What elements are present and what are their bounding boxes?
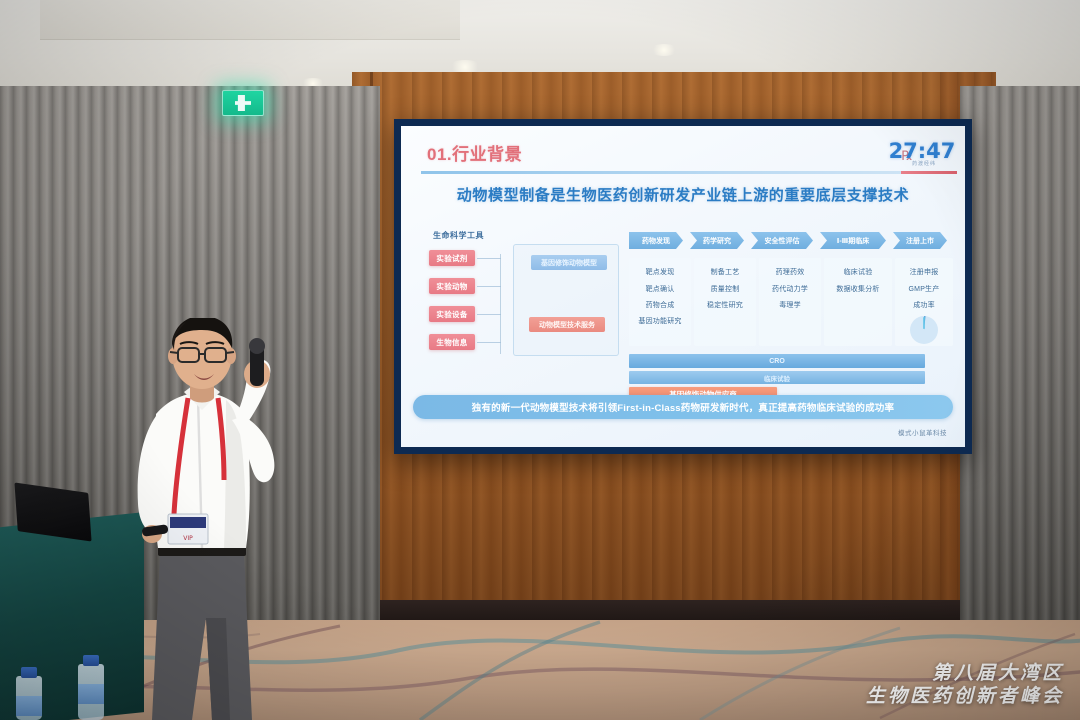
col-item: 毒理学 [759, 297, 821, 313]
col-item: 靶点发现 [629, 264, 691, 280]
tool-connector [477, 342, 501, 343]
col-item: 药代动力学 [759, 280, 821, 296]
bottle-cap [21, 667, 37, 678]
col-item: 靶点确认 [629, 280, 691, 296]
event-watermark: 第八届大湾区 生物医药创新者峰会 [866, 662, 1064, 708]
tool-chip-animals: 实验动物 [429, 278, 475, 294]
col-item: 制备工艺 [694, 264, 756, 280]
col-item: GMP生产 [895, 280, 953, 296]
exit-sign [222, 90, 264, 116]
ceiling-panel [40, 0, 460, 40]
column-drug-discovery: 靶点发现 靶点确认 药物合成 基因功能研究 [629, 258, 691, 346]
tool-chip-reagents: 实验试剂 [429, 250, 475, 266]
exit-running-man-icon [235, 95, 251, 111]
bar-cro-sub: 临床试验 [629, 371, 925, 384]
flow-step-drug-discovery: 药物发现 [629, 232, 683, 249]
col-item: 药理药效 [759, 264, 821, 280]
water-bottle [16, 676, 42, 720]
tool-connector [477, 286, 501, 287]
column-safety-evaluation: 药理药效 药代动力学 毒理学 [759, 258, 821, 346]
projection-screen-frame: 01.行业背景 ℞ 27:47 药渡经纬 动物模型制备是生物医药创新研发产业链上… [394, 119, 972, 454]
laptop-screen [14, 482, 91, 541]
col-item: 质量控制 [694, 280, 756, 296]
success-rate-chart [895, 314, 953, 346]
col-item: 稳定性研究 [694, 297, 756, 313]
presenter-figure: VIP [126, 318, 336, 720]
process-flow: 药物发现 药学研究 安全性评估 Ⅰ-Ⅲ期临床 注册上市 [629, 232, 954, 249]
slide-section-title: 01.行业背景 [427, 140, 522, 165]
process-detail-columns: 靶点发现 靶点确认 药物合成 基因功能研究 制备工艺 质量控制 稳定性研究 药理… [629, 258, 953, 346]
column-pharmaceutical-research: 制备工艺 质量控制 稳定性研究 [694, 258, 756, 346]
bar-cro: CRO [629, 354, 925, 368]
slide-footer-logo: 模式小鼠革科技 [898, 427, 947, 437]
tool-chip-equipment: 实验设备 [429, 306, 475, 322]
laptop [16, 488, 102, 546]
water-bottle [78, 664, 104, 720]
presenter: VIP [126, 318, 336, 720]
photo-scene: 01.行业背景 ℞ 27:47 药渡经纬 动物模型制备是生物医药创新研发产业链上… [0, 0, 1080, 720]
slide-headline: 动物模型制备是生物医药创新研发产业链上游的重要底层支撑技术 [401, 184, 965, 205]
tool-connector [477, 258, 501, 259]
curtain-right [960, 86, 1080, 686]
chip-genetically-modified-model: 基因修饰动物模型 [531, 255, 607, 270]
column-clinical: 临床试验 数据收集分析 [824, 258, 892, 346]
col-item: 数据收集分析 [824, 280, 892, 296]
col-item: 基因功能研究 [629, 313, 691, 329]
presenter-trousers [152, 554, 252, 720]
watermark-line-2: 生物医药创新者峰会 [866, 685, 1064, 708]
success-rate-label: 成功率 [895, 297, 953, 313]
col-item: 药物合成 [629, 297, 691, 313]
timer-logo-caption: 药渡经纬 [891, 160, 957, 167]
flow-step-pharmaceutical-research: 药学研究 [690, 232, 744, 249]
title-divider-accent [901, 171, 957, 174]
tool-chip-bioinformatics: 生物信息 [429, 334, 475, 350]
tool-connector [477, 314, 501, 315]
flow-step-registration-launch: 注册上市 [893, 232, 947, 249]
col-item: 注册申报 [895, 264, 953, 280]
bottle-label [16, 696, 42, 716]
downlight [650, 44, 678, 56]
flow-step-clinical-phases: Ⅰ-Ⅲ期临床 [820, 232, 886, 249]
bottle-cap [83, 655, 99, 666]
watermark-line-1: 第八届大湾区 [866, 662, 1064, 685]
tools-spine [500, 254, 501, 354]
slide-canvas: 01.行业背景 ℞ 27:47 药渡经纬 动物模型制备是生物医药创新研发产业链上… [401, 126, 965, 447]
slide-banner: 独有的新一代动物模型技术将引领First-in-Class药物研发新时代，真正提… [413, 395, 953, 419]
svg-text:VIP: VIP [183, 535, 193, 542]
chip-animal-model-service: 动物模型技术服务 [529, 317, 605, 332]
tools-section-label: 生命科学工具 [433, 230, 484, 241]
flow-step-safety-evaluation: 安全性评估 [751, 232, 813, 249]
bottle-label [78, 684, 104, 704]
col-item: 临床试验 [824, 264, 892, 280]
title-divider [421, 171, 921, 174]
column-registration: 注册申报 GMP生产 成功率 [895, 258, 953, 346]
